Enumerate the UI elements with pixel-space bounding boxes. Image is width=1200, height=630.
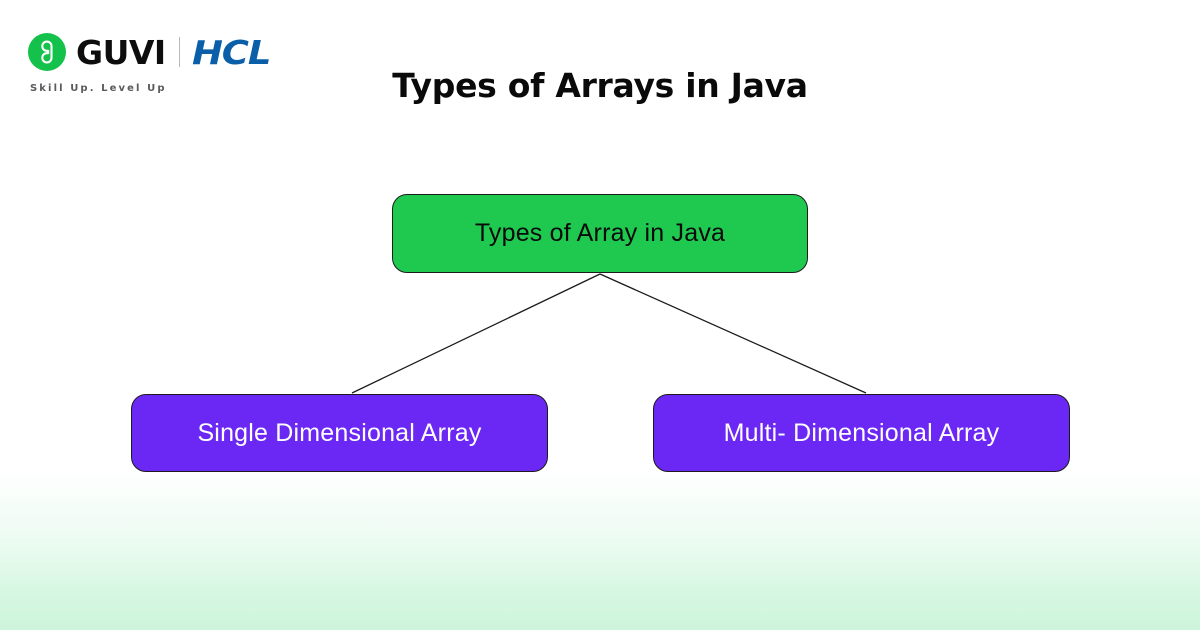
types-of-array-diagram: Types of Array in Java Single Dimensiona… — [0, 0, 1200, 630]
diagram-connector-edges — [0, 0, 1200, 630]
edge-root-to-single — [352, 274, 600, 393]
node-multi-dimensional-array[interactable]: Multi- Dimensional Array — [653, 394, 1070, 472]
node-single-dimensional-array[interactable]: Single Dimensional Array — [131, 394, 548, 472]
edge-root-to-multi — [600, 274, 866, 393]
node-root-types-of-array[interactable]: Types of Array in Java — [392, 194, 808, 273]
slide-canvas: GUVI HCL Skill Up. Level Up Types of Arr… — [0, 0, 1200, 630]
